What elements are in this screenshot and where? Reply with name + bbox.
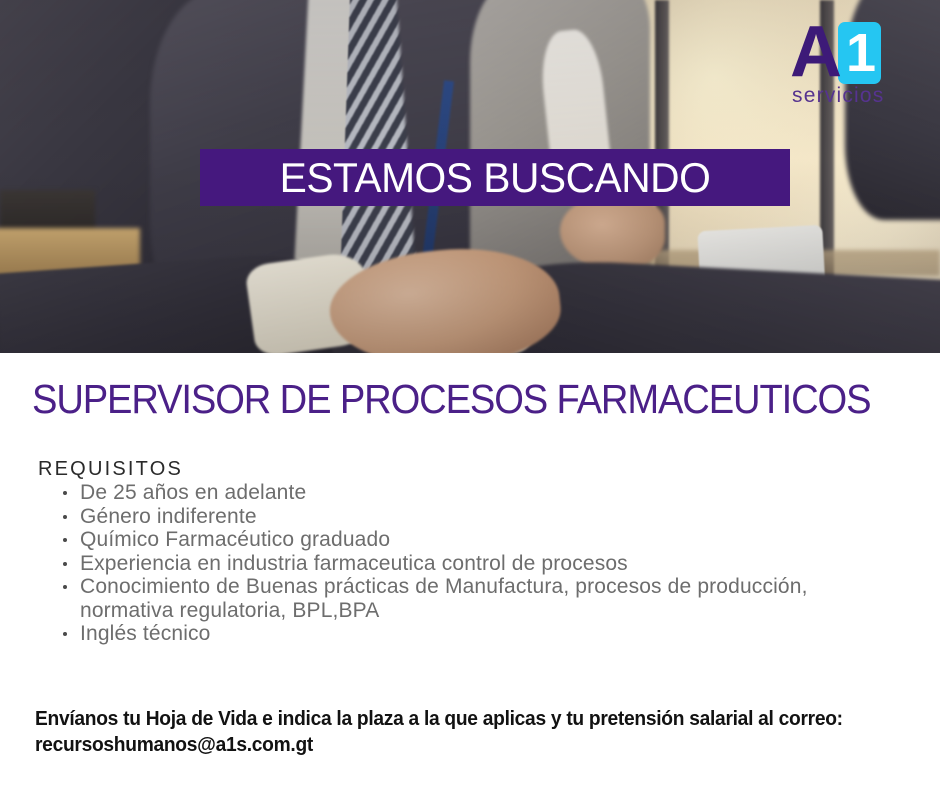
requirements-list: De 25 años en adelante Género indiferent… (58, 481, 888, 646)
list-item: Conocimiento de Buenas prácticas de Manu… (58, 575, 888, 622)
list-item: Inglés técnico (58, 622, 888, 646)
job-title: SUPERVISOR DE PROCESOS FARMACEUTICOS (32, 376, 850, 423)
list-item: Experiencia en industria farmaceutica co… (58, 552, 888, 576)
requirements-heading: REQUISITOS (38, 458, 183, 481)
list-item: Químico Farmacéutico graduado (58, 528, 888, 552)
logo-subtitle: servicios (792, 84, 884, 108)
company-logo: 1 A servicios (790, 22, 895, 114)
footer-instruction: Envíanos tu Hoja de Vida e indica la pla… (35, 708, 843, 730)
list-item: Género indiferente (58, 505, 888, 529)
logo-number: 1 (846, 28, 875, 78)
contact-email[interactable]: recursoshumanos@a1s.com.gt (35, 732, 880, 758)
list-item: De 25 años en adelante (58, 481, 888, 505)
header-photo: 1 A servicios ESTAMOS BUSCANDO (0, 0, 940, 353)
headline-text: ESTAMOS BUSCANDO (280, 154, 711, 202)
headline-banner: ESTAMOS BUSCANDO (200, 149, 790, 206)
logo-letter: A (790, 19, 842, 85)
footer-contact: Envíanos tu Hoja de Vida e indica la pla… (35, 706, 880, 758)
